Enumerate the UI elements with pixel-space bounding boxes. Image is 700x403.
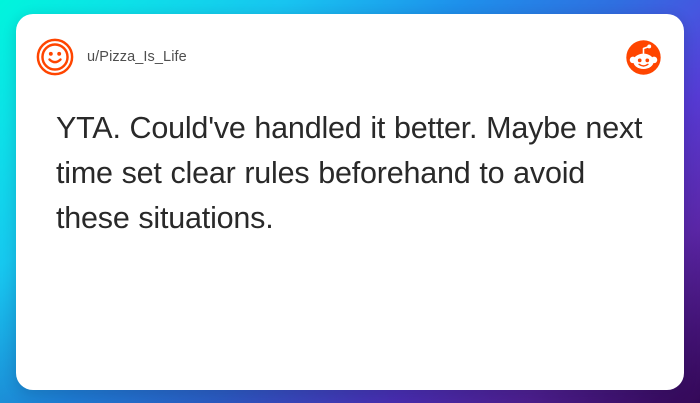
reddit-comment-card: u/Pizza_Is_Life YTA. Could've handled it…: [16, 14, 684, 390]
smiley-face-avatar-icon[interactable]: [36, 38, 74, 76]
card-body: YTA. Could've handled it better. Maybe n…: [16, 106, 684, 241]
card-header: u/Pizza_Is_Life: [16, 14, 684, 100]
username-label[interactable]: u/Pizza_Is_Life: [87, 49, 187, 65]
comment-text: YTA. Could've handled it better. Maybe n…: [56, 106, 650, 241]
reddit-snoo-logo-icon[interactable]: [625, 39, 662, 76]
